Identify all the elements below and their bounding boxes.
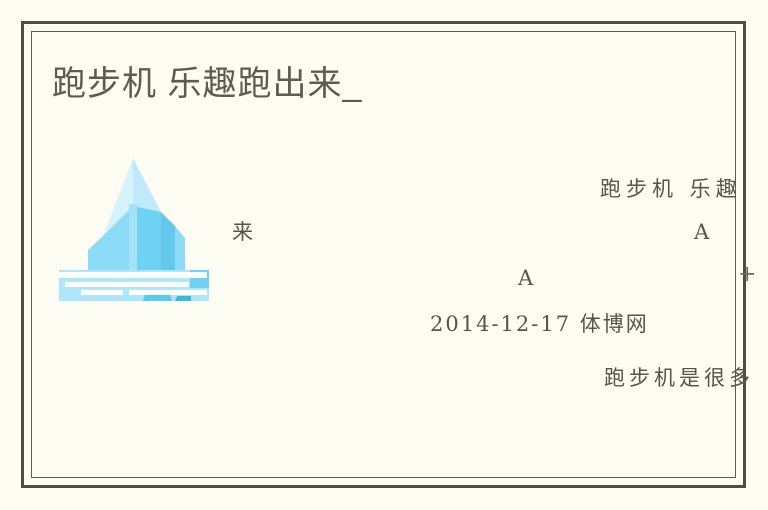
iceberg-illustration <box>57 146 212 301</box>
article-preview-page: 跑步机 乐趣跑出来_ <box>0 0 768 510</box>
article-headline-excerpt: 跑步机 乐趣 <box>600 173 742 203</box>
marker-letter-a-lower: A <box>518 266 533 290</box>
caption-fragment-text: 来 <box>232 216 255 246</box>
article-date-source: 2014-12-17 体博网 <box>430 308 649 338</box>
plus-marker-icon: + <box>738 262 756 287</box>
page-title: 跑步机 乐趣跑出来_ <box>52 62 362 106</box>
article-lead-excerpt: 跑步机是很多 <box>604 362 754 392</box>
marker-letter-a-upper: A <box>694 220 709 244</box>
